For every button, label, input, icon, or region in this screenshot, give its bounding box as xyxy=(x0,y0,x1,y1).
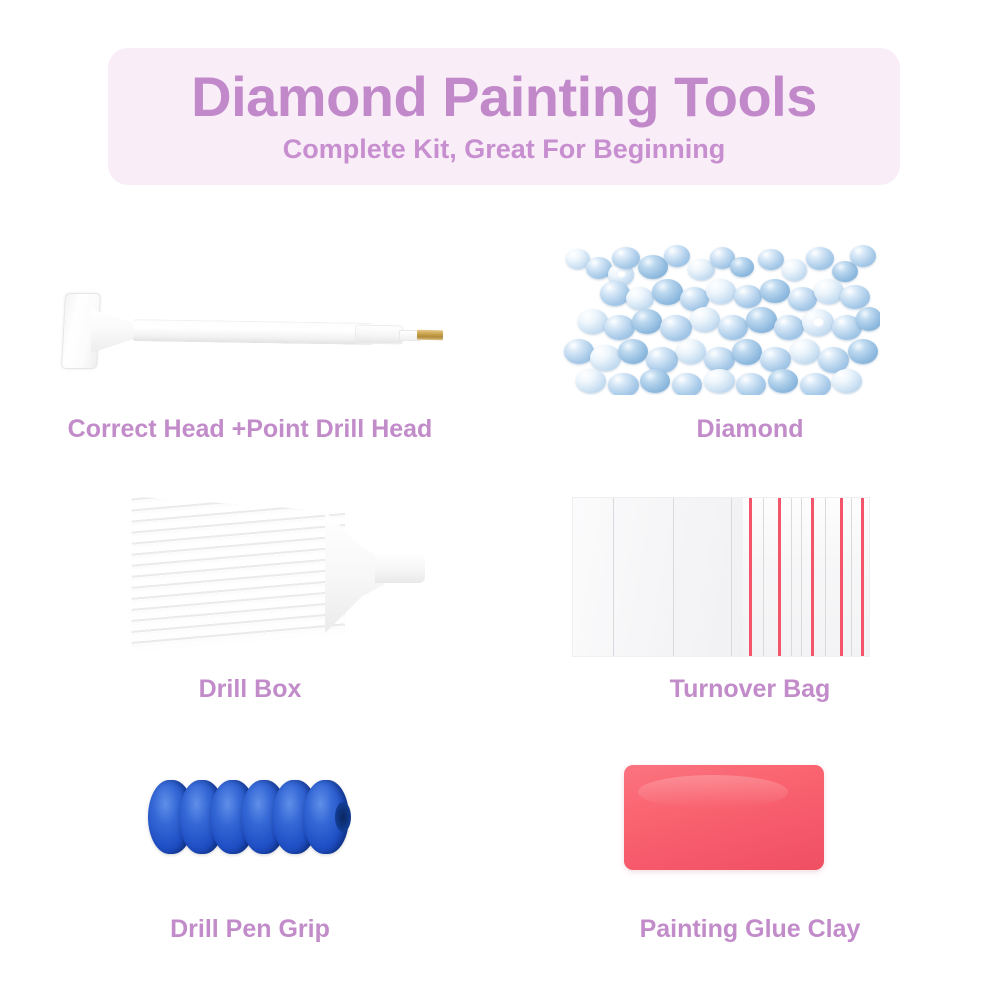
diamond-bead xyxy=(832,369,862,393)
diamond-bead xyxy=(690,307,720,332)
diamond-bead xyxy=(640,369,670,393)
bag-fold-line xyxy=(851,498,852,656)
diamond-bead xyxy=(736,373,766,395)
product-cell-turnover-bag: Turnover Bag xyxy=(500,475,1000,720)
bag-front-panel xyxy=(573,498,743,656)
product-cell-drill-box: Drill Box xyxy=(0,475,500,720)
diamond-bead xyxy=(758,249,784,270)
product-cell-drill-pen-grip: Drill Pen Grip xyxy=(0,735,500,965)
diamond-bead xyxy=(706,279,736,304)
diamond-bead xyxy=(806,247,834,270)
diamond-bead xyxy=(600,281,630,306)
diamond-bead xyxy=(760,279,790,303)
diamond-bead xyxy=(730,257,754,277)
grip-bore-hole xyxy=(335,802,351,832)
diamond-bead xyxy=(664,245,690,267)
bag-red-stripe xyxy=(778,498,781,656)
bag-red-stripe xyxy=(749,498,752,656)
diamond-bead xyxy=(618,339,648,364)
product-label-diamond: Diamond xyxy=(500,415,1000,444)
diamond-bead xyxy=(612,247,640,269)
diamond-bead xyxy=(800,373,831,395)
diamond-beads-image xyxy=(560,235,880,395)
header-banner: Diamond Painting Tools Complete Kit, Gre… xyxy=(108,48,900,185)
bag-fold-line xyxy=(673,498,674,656)
clay-highlight xyxy=(638,775,788,809)
diamond-bead xyxy=(840,285,870,309)
product-label-drill-box: Drill Box xyxy=(0,675,500,704)
product-cell-correct-head-point-drill-head: Correct Head +Point Drill Head xyxy=(0,230,500,460)
diamond-bead xyxy=(788,287,817,311)
bag-fold-line xyxy=(613,498,614,656)
diamond-bead xyxy=(718,315,748,340)
diamond-bead xyxy=(782,259,807,281)
diamond-bead xyxy=(590,345,621,371)
product-cell-painting-glue-clay: Painting Glue Clay xyxy=(500,735,1000,965)
diamond-bead xyxy=(732,339,762,365)
diamond-bead xyxy=(604,315,635,340)
page-subtitle: Complete Kit, Great For Beginning xyxy=(283,134,726,165)
product-label-painting-glue-clay: Painting Glue Clay xyxy=(500,915,1000,944)
product-label-drill-pen-grip: Drill Pen Grip xyxy=(0,915,500,944)
drill-box-image xyxy=(125,485,415,660)
bag-fold-line xyxy=(791,498,792,656)
bag-fold-line xyxy=(731,498,732,656)
infographic-page: Diamond Painting Tools Complete Kit, Gre… xyxy=(0,0,1000,1000)
diamond-bead xyxy=(676,339,706,364)
painting-glue-clay-image xyxy=(624,765,824,870)
diamond-bead xyxy=(790,339,820,364)
diamond-bead xyxy=(734,285,762,308)
diamond-bead xyxy=(848,339,878,364)
diamond-bead xyxy=(632,309,662,334)
bag-red-stripe xyxy=(811,498,814,656)
diamond-bead xyxy=(768,369,798,393)
diamond-bead xyxy=(608,373,639,395)
pen-gold-tip xyxy=(417,330,443,340)
pen-collar xyxy=(355,325,403,345)
product-cell-diamond: Diamond xyxy=(500,230,1000,460)
bag-fold-line xyxy=(801,498,802,656)
product-label-turnover-bag: Turnover Bag xyxy=(500,675,1000,704)
diamond-bead xyxy=(672,373,702,395)
bag-fold-line xyxy=(825,498,826,656)
diamond-bead xyxy=(856,307,880,331)
pen-neck xyxy=(91,309,137,353)
diamond-bead xyxy=(704,369,735,393)
bag-red-stripe xyxy=(861,498,864,656)
drill-box-grooves xyxy=(125,493,345,653)
page-title: Diamond Painting Tools xyxy=(191,68,817,127)
grip-segment xyxy=(303,780,349,854)
diamond-bead xyxy=(760,347,791,372)
drill-box-handle xyxy=(375,553,425,583)
diamond-bead xyxy=(660,315,692,341)
diamond-bead xyxy=(850,245,876,267)
bag-red-stripe xyxy=(840,498,843,656)
turnover-bag-image xyxy=(572,497,870,657)
product-label-correct-head-point-drill-head: Correct Head +Point Drill Head xyxy=(0,415,500,444)
diamond-bead xyxy=(802,309,834,336)
diamond-bead xyxy=(746,307,777,333)
diamond-bead xyxy=(626,287,654,310)
diamond-bead xyxy=(814,279,844,304)
diamond-bead xyxy=(576,369,606,393)
diamond-bead xyxy=(652,279,683,305)
bag-fold-line xyxy=(763,498,764,656)
drill-pen-image xyxy=(55,275,455,380)
diamond-bead xyxy=(774,315,804,340)
drill-pen-grip-image xyxy=(148,780,363,865)
